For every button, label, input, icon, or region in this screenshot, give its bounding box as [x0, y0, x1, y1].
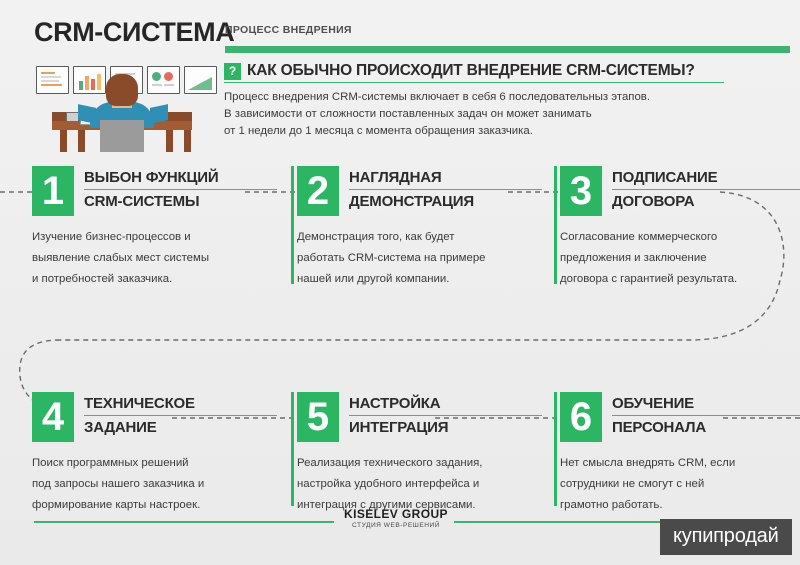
- step-title-line1: ОБУЧЕНИЕ: [612, 392, 800, 416]
- page-title: CRM-СИСТЕМА: [34, 16, 234, 48]
- step-header: 3 ПОДПИСАНИЕ ДОГОВОРА: [560, 166, 800, 221]
- step-divider: [291, 392, 294, 506]
- step-description-line: и потребностей заказчика.: [32, 269, 275, 290]
- step-title-line2: ДЕМОНСТРАЦИЯ: [349, 190, 542, 213]
- step-header: 5 НАСТРОЙКА ИНТЕГРАЦИЯ: [297, 392, 542, 447]
- step-description-line: Изучение бизнес-процессов и: [32, 227, 275, 248]
- step-card-2: 2 НАГЛЯДНАЯ ДЕМОНСТРАЦИЯ Демонстрация то…: [297, 166, 542, 290]
- step-title-line1: ПОДПИСАНИЕ: [612, 166, 800, 190]
- monitor-icon: [184, 66, 217, 94]
- company-logo: KISELEV GROUP СТУДИЯ WEB-РЕШЕНИЙ: [336, 507, 456, 531]
- person-at-desk-illustration: [28, 60, 214, 156]
- step-number-badge: 3: [560, 166, 602, 216]
- step-title-line1: НАСТРОЙКА: [349, 392, 542, 416]
- step-title-group: ВЫБОН ФУНКЦИЙ CRM-СИСТЕМЫ: [84, 166, 277, 213]
- step-title-line2: ДОГОВОРА: [612, 190, 800, 213]
- step-title-group: ТЕХНИЧЕСКОЕ ЗАДАНИЕ: [84, 392, 277, 439]
- step-title-line1: НАГЛЯДНАЯ: [349, 166, 542, 190]
- infographic-page: CRM-СИСТЕМА ПРОЦЕСС ВНЕДРЕНИЯ: [0, 0, 800, 565]
- step-description-line: Реализация технического задания,: [297, 453, 540, 474]
- step-title-group: НАСТРОЙКА ИНТЕГРАЦИЯ: [349, 392, 542, 439]
- step-header: 6 ОБУЧЕНИЕ ПЕРСОНАЛА: [560, 392, 800, 447]
- step-number-badge: 2: [297, 166, 339, 216]
- step-card-3: 3 ПОДПИСАНИЕ ДОГОВОРА Согласование комме…: [560, 166, 800, 290]
- step-title-line2: CRM-СИСТЕМЫ: [84, 190, 277, 213]
- laptop-icon: [100, 120, 144, 152]
- intro-line: В зависимости от сложности поставленных …: [224, 106, 784, 123]
- footer-rule-left: [34, 521, 334, 523]
- step-number-badge: 5: [297, 392, 339, 442]
- intro-block: ? КАК ОБЫЧНО ПРОИСХОДИТ ВНЕДРЕНИЕ CRM-СИ…: [224, 62, 784, 140]
- step-divider: [291, 166, 294, 284]
- step-description-line: договора с гарантией результата.: [560, 269, 800, 290]
- intro-line: Процесс внедрения CRM-системы включает в…: [224, 89, 784, 106]
- step-description-line: Нет смысла внедрять CRM, если: [560, 453, 800, 474]
- step-description-line: выявление слабых мест системы: [32, 248, 275, 269]
- step-number-badge: 6: [560, 392, 602, 442]
- step-header: 2 НАГЛЯДНАЯ ДЕМОНСТРАЦИЯ: [297, 166, 542, 221]
- intro-body: Процесс внедрения CRM-системы включает в…: [224, 89, 784, 140]
- step-title-group: НАГЛЯДНАЯ ДЕМОНСТРАЦИЯ: [349, 166, 542, 213]
- question-badge-icon: ?: [224, 63, 241, 80]
- person-head: [106, 74, 138, 106]
- step-title-line1: ТЕХНИЧЕСКОЕ: [84, 392, 277, 416]
- step-card-6: 6 ОБУЧЕНИЕ ПЕРСОНАЛА Нет смысла внедрять…: [560, 392, 800, 516]
- step-description-line: сотрудники не смогут с ней: [560, 474, 800, 495]
- step-description: Демонстрация того, как будет работать CR…: [297, 227, 540, 290]
- intro-line: от 1 недели до 1 месяца с момента обраще…: [224, 123, 784, 140]
- step-divider: [554, 392, 557, 506]
- intro-heading: КАК ОБЫЧНО ПРОИСХОДИТ ВНЕДРЕНИЕ CRM-СИСТ…: [247, 62, 695, 80]
- step-card-5: 5 НАСТРОЙКА ИНТЕГРАЦИЯ Реализация технич…: [297, 392, 542, 516]
- monitor-icon: [147, 66, 180, 94]
- desk-leg: [60, 130, 67, 152]
- step-title-line2: ИНТЕГРАЦИЯ: [349, 416, 542, 439]
- page-subtitle: ПРОЦЕСС ВНЕДРЕНИЯ: [225, 24, 352, 36]
- title-accent-rule: [225, 46, 790, 53]
- step-header: 1 ВЫБОН ФУНКЦИЙ CRM-СИСТЕМЫ: [32, 166, 277, 221]
- step-description-line: Демонстрация того, как будет: [297, 227, 540, 248]
- step-description: Согласование коммерческого предложения и…: [560, 227, 800, 290]
- step-title-line2: ЗАДАНИЕ: [84, 416, 277, 439]
- step-description-line: работать CRM-система на примере: [297, 248, 540, 269]
- header: CRM-СИСТЕМА ПРОЦЕСС ВНЕДРЕНИЯ: [34, 16, 794, 58]
- intro-heading-row: ? КАК ОБЫЧНО ПРОИСХОДИТ ВНЕДРЕНИЕ CRM-СИ…: [224, 62, 724, 83]
- step-description-line: настройка удобного интерфейса и: [297, 474, 540, 495]
- step-description: Изучение бизнес-процессов и выявление сл…: [32, 227, 275, 290]
- logo-tagline: СТУДИЯ WEB-РЕШЕНИЙ: [336, 521, 456, 531]
- step-title-line2: ПЕРСОНАЛА: [612, 416, 800, 439]
- step-title-line1: ВЫБОН ФУНКЦИЙ: [84, 166, 277, 190]
- step-number-badge: 1: [32, 166, 74, 216]
- step-description-line: под запросы нашего заказчика и: [32, 474, 275, 495]
- step-card-1: 1 ВЫБОН ФУНКЦИЙ CRM-СИСТЕМЫ Изучение биз…: [32, 166, 277, 290]
- step-header: 4 ТЕХНИЧЕСКОЕ ЗАДАНИЕ: [32, 392, 277, 447]
- step-description-line: нашей или другой компании.: [297, 269, 540, 290]
- step-description-line: Согласование коммерческого: [560, 227, 800, 248]
- step-description-line: Поиск программных решений: [32, 453, 275, 474]
- monitor-icon: [73, 66, 106, 94]
- step-number-badge: 4: [32, 392, 74, 442]
- desk-leg: [166, 130, 173, 152]
- step-title-group: ПОДПИСАНИЕ ДОГОВОРА: [612, 166, 800, 213]
- watermark-badge: купипродай: [660, 519, 792, 555]
- step-description-line: предложения и заключение: [560, 248, 800, 269]
- step-divider: [554, 166, 557, 284]
- step-card-4: 4 ТЕХНИЧЕСКОЕ ЗАДАНИЕ Поиск программных …: [32, 392, 277, 516]
- monitor-icon: [36, 66, 69, 94]
- desk-leg: [184, 130, 191, 152]
- desk-leg: [78, 130, 85, 152]
- logo-name: KISELEV GROUP: [336, 507, 456, 521]
- step-title-group: ОБУЧЕНИЕ ПЕРСОНАЛА: [612, 392, 800, 439]
